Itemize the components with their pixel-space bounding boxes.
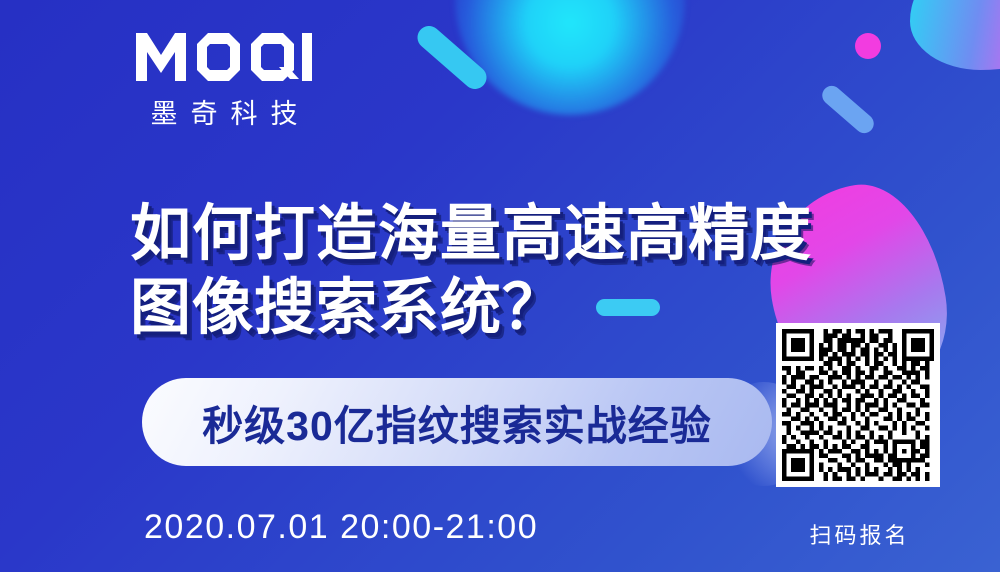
schedule-datetime: 2020.07.01 20:00-21:00 [144, 508, 538, 547]
headline-line-1: 如何打造海量高速高精度 [130, 196, 890, 270]
qr-code-caption: 扫码报名 [776, 518, 940, 550]
moqi-wordmark-icon [136, 31, 312, 83]
subtitle-pill: 秒级30亿指纹搜索实战经验 [142, 378, 772, 466]
brand-logo: 墨奇科技 [136, 31, 312, 131]
blue-diagonal-bar-decoration [818, 82, 877, 137]
gradient-blob-topright-decoration [910, 0, 1000, 70]
cyan-glow-blob-decoration [455, 0, 685, 115]
dash-accent-decoration [596, 299, 660, 316]
cyan-diagonal-bar-decoration [413, 21, 491, 93]
qr-code-image [782, 329, 934, 481]
subtitle-text: 秒级30亿指纹搜索实战经验 [202, 392, 712, 452]
magenta-dot-decoration [855, 33, 881, 59]
headline-line-2: 图像搜索系统？ [130, 270, 564, 344]
qr-code[interactable] [776, 323, 940, 487]
promo-banner: 墨奇科技 如何打造海量高速高精度 图像搜索系统？ 秒级30亿指纹搜索实战经验 2… [0, 0, 1000, 572]
headline: 如何打造海量高速高精度 图像搜索系统？ [130, 196, 890, 344]
company-name-cn: 墨奇科技 [136, 92, 312, 131]
